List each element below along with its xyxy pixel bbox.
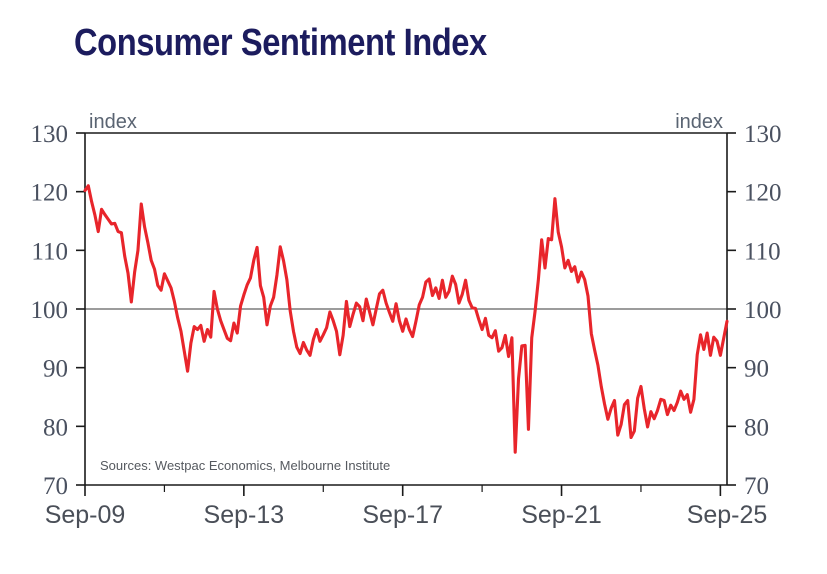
y-tick-label-left-70: 70 (43, 473, 68, 500)
y-axis-left-ticks (76, 133, 85, 485)
x-tick-label-sep-25: Sep-25 (687, 501, 768, 529)
y-tick-label-right-130: 130 (744, 121, 782, 148)
y-tick-label-right-70: 70 (744, 473, 769, 500)
x-tick-label-sep-21: Sep-21 (521, 501, 602, 529)
y-axis-right-labels: 708090100110120130 (744, 121, 782, 500)
y-tick-label-left-90: 90 (43, 356, 68, 383)
y-tick-label-left-80: 80 (43, 414, 68, 441)
y-tick-label-right-100: 100 (744, 297, 782, 324)
x-tick-label-sep-13: Sep-13 (204, 501, 285, 529)
unit-label-left: index (89, 111, 137, 133)
y-tick-label-right-110: 110 (744, 238, 781, 265)
consumer-sentiment-chart: 708090100110120130 708090100110120130 Se… (0, 0, 827, 574)
y-tick-label-left-120: 120 (31, 180, 69, 207)
y-tick-label-left-110: 110 (31, 238, 68, 265)
chart-page: Consumer Sentiment Index 708090100110120… (0, 0, 827, 574)
y-tick-label-right-90: 90 (744, 356, 769, 383)
source-note: Sources: Westpac Economics, Melbourne In… (100, 458, 390, 473)
unit-label-right: index (675, 111, 723, 133)
y-axis-right-ticks (727, 133, 736, 485)
y-tick-label-left-130: 130 (31, 121, 69, 148)
y-tick-label-left-100: 100 (31, 297, 69, 324)
y-tick-label-right-80: 80 (744, 414, 769, 441)
x-tick-label-sep-17: Sep-17 (362, 501, 443, 529)
x-axis-ticks (85, 485, 720, 496)
x-axis-labels: Sep-09Sep-13Sep-17Sep-21Sep-25 (45, 501, 768, 529)
y-axis-left-labels: 708090100110120130 (31, 121, 69, 500)
y-tick-label-right-120: 120 (744, 180, 782, 207)
x-tick-label-sep-09: Sep-09 (45, 501, 126, 529)
